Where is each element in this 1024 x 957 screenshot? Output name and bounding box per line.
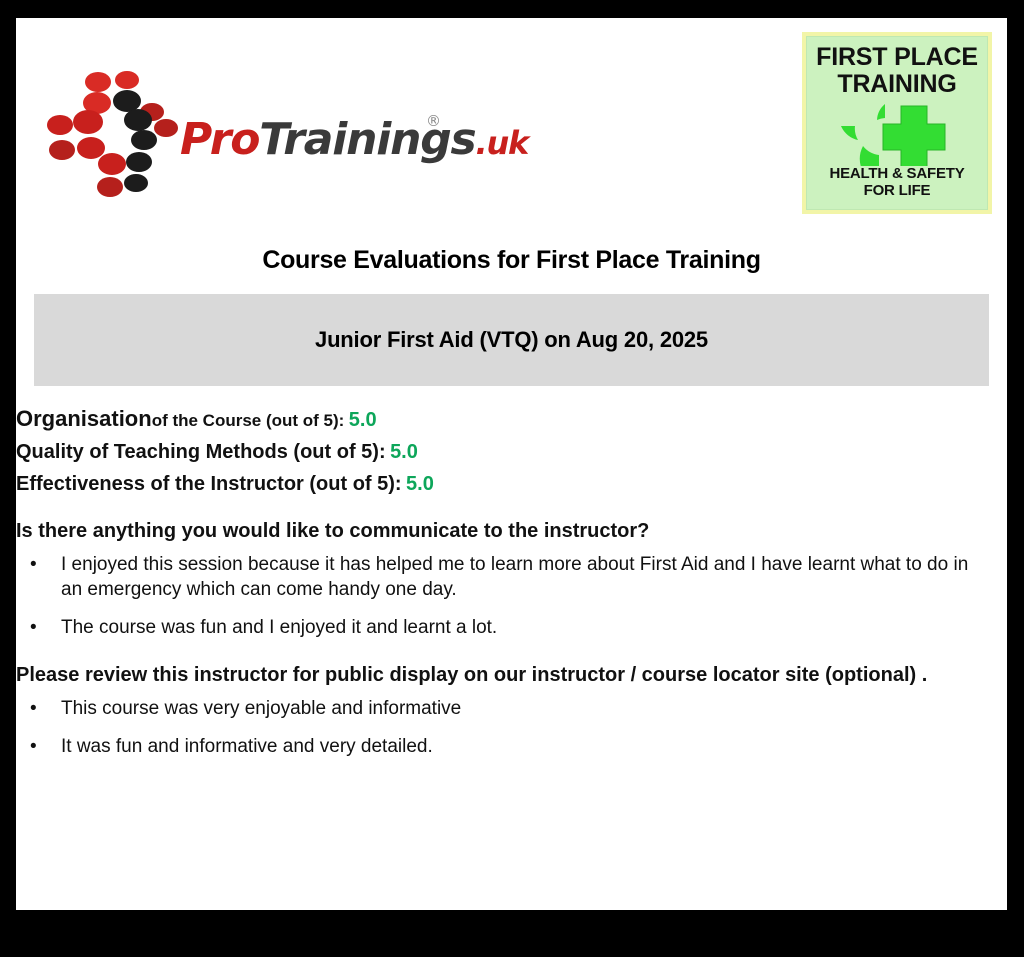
rating-lead-rest-organisation: of the Course (out of 5): (152, 411, 345, 430)
fpt-logo-line2: TRAINING (807, 71, 987, 98)
page-title: Course Evaluations for First Place Train… (16, 246, 1007, 275)
fpt-logo-line1: FIRST PLACE (807, 44, 987, 71)
fpt-cross-graphic (807, 100, 987, 166)
fpt-logo-line4: FOR LIFE (807, 183, 987, 200)
page-header: ProTrainings.uk ® FIRST PLACE TRAINING H… (16, 18, 1007, 218)
wordmark-tld: .uk (476, 124, 529, 162)
bullet-icon: • (30, 734, 37, 759)
rating-row-instructor-effectiveness: Effectiveness of the Instructor (out of … (16, 473, 991, 496)
rating-row-teaching-methods: Quality of Teaching Methods (out of 5): … (16, 441, 991, 464)
answers-public-review: •This course was very enjoyable and info… (16, 696, 991, 759)
bullet-icon: • (30, 615, 37, 640)
question-public-review: Please review this instructor for public… (16, 662, 978, 688)
wordmark-trainings: Trainings (259, 114, 475, 165)
protrainings-wordmark: ProTrainings.uk (180, 114, 528, 165)
registered-trademark-icon: ® (426, 112, 441, 130)
first-place-training-logo-inner: FIRST PLACE TRAINING HEALTH & SAFETY FOR… (806, 36, 988, 210)
fpt-logo-line3: HEALTH & SAFETY (807, 166, 987, 183)
protrainings-dot-swirl-icon (40, 70, 190, 200)
rating-label-instructor-effectiveness: Effectiveness of the Instructor (out of … (16, 473, 402, 495)
rating-lead-organisation: Organisation (16, 406, 152, 431)
answers-communicate-to-instructor: •I enjoyed this session because it has h… (16, 552, 991, 640)
bullet-icon: • (30, 552, 37, 577)
rating-score-teaching-methods: 5.0 (390, 441, 418, 463)
question-communicate-to-instructor: Is there anything you would like to comm… (16, 518, 978, 544)
answer-text: I enjoyed this session because it has he… (61, 554, 968, 600)
evaluation-page: ProTrainings.uk ® FIRST PLACE TRAINING H… (16, 18, 1007, 910)
bullet-icon: • (30, 696, 37, 721)
rating-score-organisation: 5.0 (349, 409, 377, 431)
course-header-band: Junior First Aid (VTQ) on Aug 20, 2025 (34, 294, 989, 386)
list-item: •I enjoyed this session because it has h… (16, 552, 991, 602)
list-item: •It was fun and informative and very det… (16, 734, 991, 759)
list-item: •The course was fun and I enjoyed it and… (16, 615, 991, 640)
rating-score-instructor-effectiveness: 5.0 (406, 473, 434, 495)
evaluation-body: Organisationof the Course (out of 5): 5.… (16, 386, 1007, 759)
course-name-and-date: Junior First Aid (VTQ) on Aug 20, 2025 (315, 327, 708, 353)
protrainings-logo: ProTrainings.uk ® (40, 70, 440, 210)
answer-text: This course was very enjoyable and infor… (61, 698, 461, 719)
answer-text: It was fun and informative and very deta… (61, 736, 433, 757)
rating-label-teaching-methods: Quality of Teaching Methods (out of 5): (16, 441, 386, 463)
green-cross-icon (807, 100, 987, 166)
rating-row-organisation: Organisationof the Course (out of 5): 5.… (16, 406, 991, 432)
list-item: •This course was very enjoyable and info… (16, 696, 991, 721)
answer-text: The course was fun and I enjoyed it and … (61, 617, 497, 638)
first-place-training-logo: FIRST PLACE TRAINING HEALTH & SAFETY FOR… (802, 32, 992, 214)
wordmark-pro: Pro (180, 114, 259, 165)
